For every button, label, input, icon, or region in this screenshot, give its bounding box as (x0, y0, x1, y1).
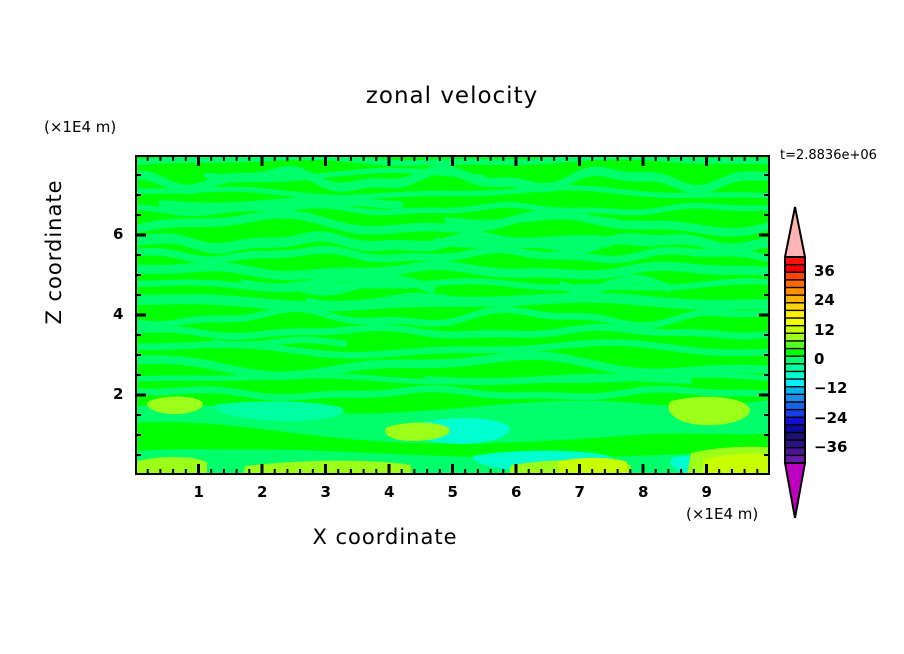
z-tick-label: 6 (113, 225, 123, 243)
x-tick-label: 7 (575, 483, 585, 501)
colorbar-scale (778, 205, 812, 520)
z-tick-label: 4 (113, 305, 123, 323)
z-axis-unit-label: (×1E4 m) (44, 118, 116, 136)
colorbar-tick-label: 36 (814, 262, 835, 280)
time-annotation: t=2.8836e+06 (780, 148, 877, 163)
x-tick-label: 3 (321, 483, 331, 501)
colorbar-tick-label: 24 (814, 291, 835, 309)
x-tick-label: 9 (702, 483, 712, 501)
colorbar-tick-label: −36 (814, 438, 847, 456)
x-tick-label: 6 (511, 483, 521, 501)
contour-plot (135, 155, 770, 475)
colorbar-tick-label: 12 (814, 321, 835, 339)
colorbar-tick-label: −24 (814, 409, 847, 427)
x-tick-label: 1 (194, 483, 204, 501)
z-axis-title: Z coordinate (42, 162, 66, 342)
x-axis-unit-label: (×1E4 m) (686, 505, 758, 523)
z-tick-label: 2 (113, 385, 123, 403)
x-tick-label: 4 (384, 483, 394, 501)
colorbar-tick-label: −12 (814, 379, 847, 397)
x-tick-label: 2 (257, 483, 267, 501)
x-axis-title: X coordinate (0, 525, 770, 549)
x-tick-label: 8 (638, 483, 648, 501)
contour-field (135, 155, 770, 475)
colorbar (778, 205, 812, 520)
page-title: zonal velocity (0, 83, 904, 109)
colorbar-tick-label: 0 (814, 350, 824, 368)
x-tick-label: 5 (448, 483, 458, 501)
